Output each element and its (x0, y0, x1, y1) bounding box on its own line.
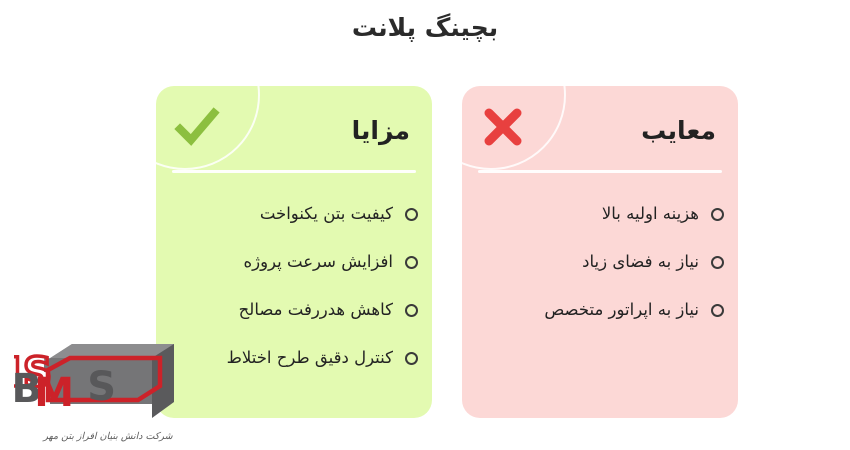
list-item-label: افزایش سرعت پروژه (243, 250, 393, 274)
svg-text:M: M (34, 370, 76, 416)
pros-card-header: مزایا (352, 114, 410, 148)
cross-icon (480, 104, 526, 150)
bullet-icon (405, 208, 418, 221)
list-item: کاهش هدررفت مصالح (170, 286, 418, 334)
list-item-label: نیاز به فضای زیاد (582, 250, 699, 274)
cons-card-header: معایب (641, 114, 716, 148)
logo-tagline: شرکت دانش بنیان افراز بتن مهر (22, 431, 194, 442)
list-item: کنترل دقیق طرح اختلاط (170, 334, 418, 382)
list-item: نیاز به اپراتور متخصص (476, 286, 724, 334)
list-item-label: هزینه اولیه بالا (602, 202, 699, 226)
list-item: نیاز به فضای زیاد (476, 238, 724, 286)
list-item: افزایش سرعت پروژه (170, 238, 418, 286)
cons-card: معایب هزینه اولیه بالا نیاز به فضای زیاد… (462, 86, 738, 418)
pros-card: مزایا کیفیت بتن یکنواخت افزایش سرعت پروژ… (156, 86, 432, 418)
company-logo: BMS B M S شرکت دانش بنیان افراز بتن مهر (14, 328, 194, 444)
bullet-icon (711, 256, 724, 269)
bullet-icon (405, 304, 418, 317)
list-item: کیفیت بتن یکنواخت (170, 190, 418, 238)
check-icon (174, 104, 220, 150)
pros-list: کیفیت بتن یکنواخت افزایش سرعت پروژه کاهش… (170, 190, 418, 382)
svg-text:S: S (87, 364, 118, 410)
bullet-icon (405, 352, 418, 365)
pros-card-divider (172, 170, 416, 173)
bullet-icon (711, 304, 724, 317)
list-item: هزینه اولیه بالا (476, 190, 724, 238)
bullet-icon (711, 208, 724, 221)
cons-card-divider (478, 170, 722, 173)
infographic-page: بچینگ پلانت مزایا کیفیت بتن یکنواخت افزا… (0, 0, 850, 450)
bullet-icon (405, 256, 418, 269)
list-item-label: کاهش هدررفت مصالح (239, 298, 393, 322)
list-item-label: کنترل دقیق طرح اختلاط (227, 346, 393, 370)
page-title: بچینگ پلانت (0, 10, 850, 46)
cons-list: هزینه اولیه بالا نیاز به فضای زیاد نیاز … (476, 190, 724, 334)
list-item-label: کیفیت بتن یکنواخت (260, 202, 393, 226)
list-item-label: نیاز به اپراتور متخصص (544, 298, 699, 322)
